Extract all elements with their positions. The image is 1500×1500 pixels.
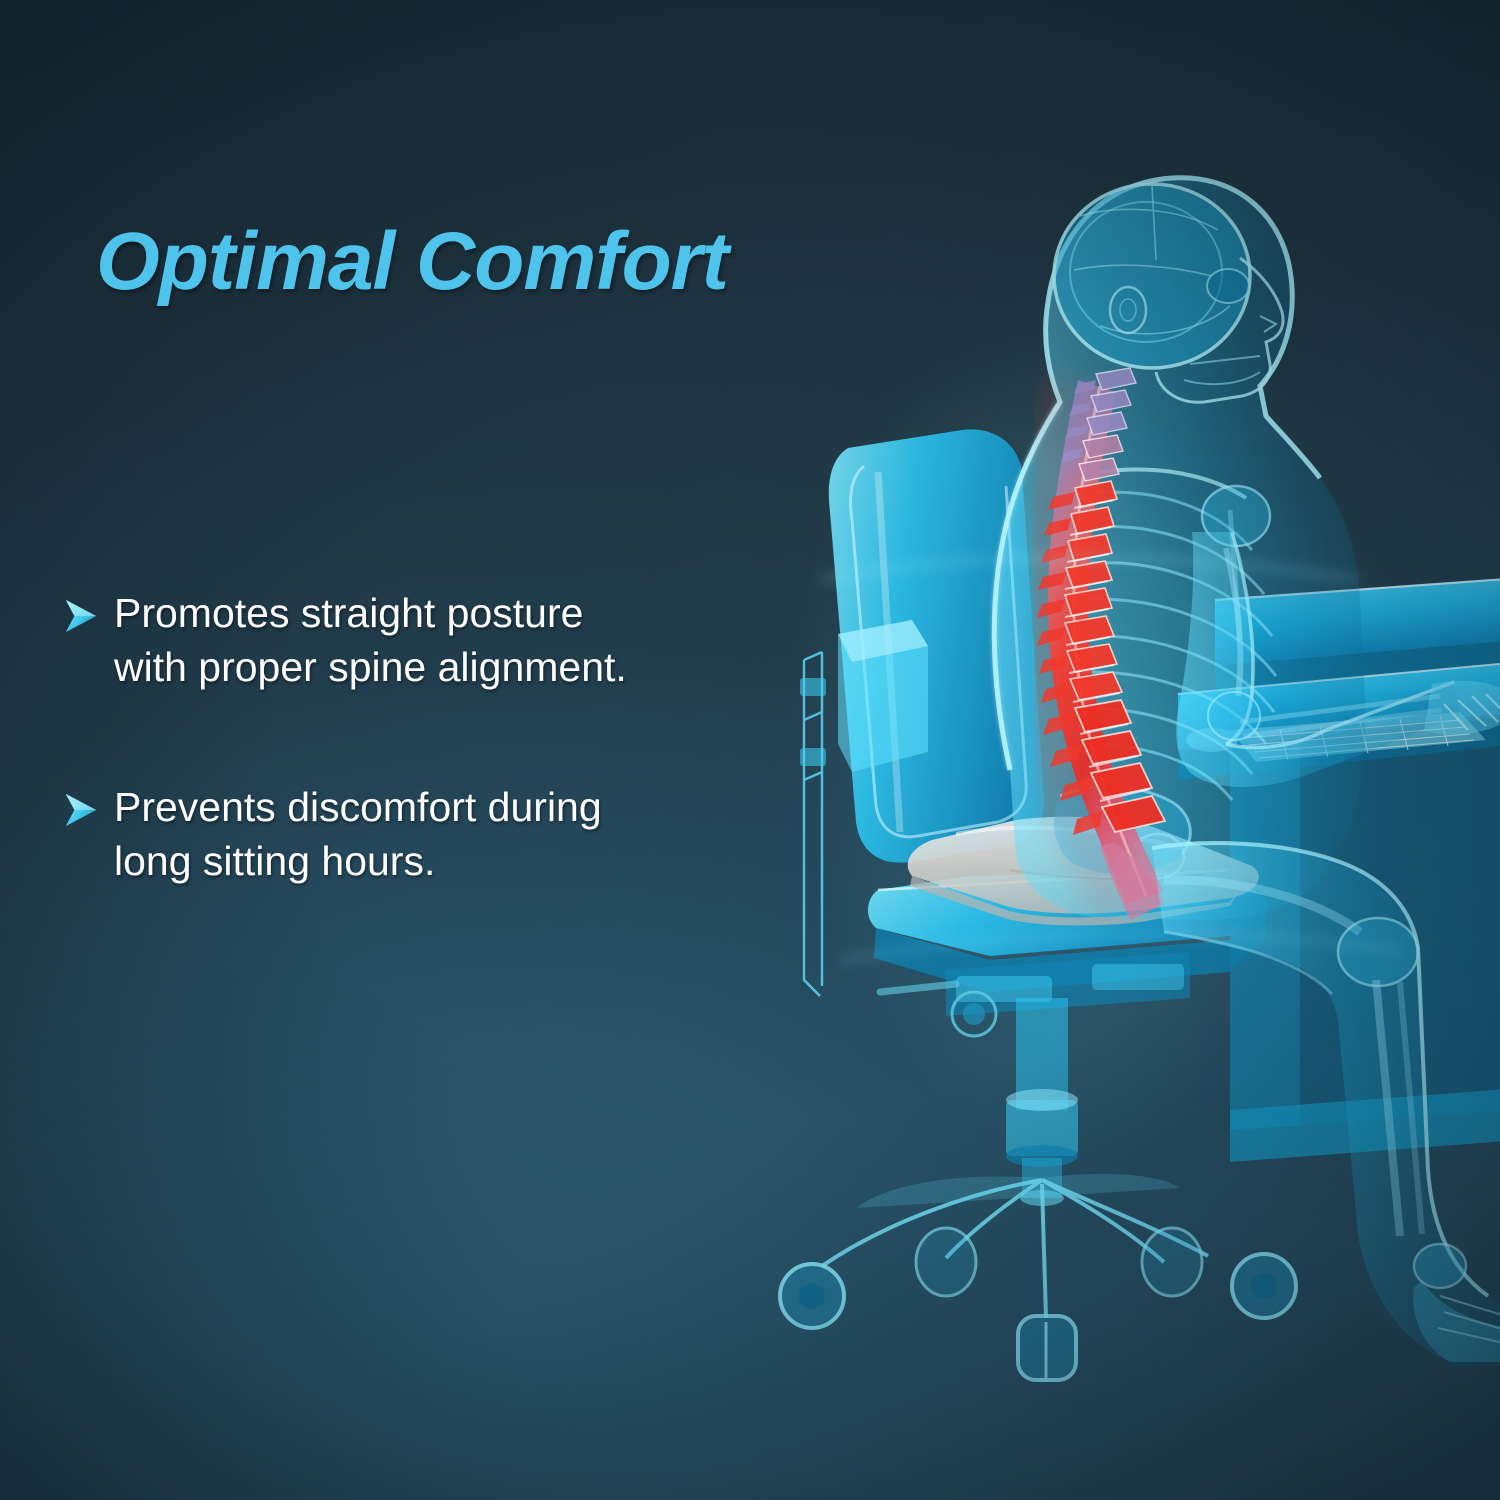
list-item: Prevents discomfort during long sitting … bbox=[62, 780, 762, 888]
arrowhead-icon bbox=[62, 597, 100, 635]
caster-wheels bbox=[780, 1228, 1296, 1380]
product-feature-banner: Optimal Comfort Promotes straight postur… bbox=[0, 0, 1500, 1500]
bullet-line-2: with proper spine alignment. bbox=[114, 644, 627, 690]
feature-bullet-list: Promotes straight posture with proper sp… bbox=[62, 586, 762, 974]
page-title: Optimal Comfort bbox=[96, 215, 728, 309]
bullet-line-1: Promotes straight posture bbox=[114, 590, 583, 636]
list-item-text: Prevents discomfort during long sitting … bbox=[114, 780, 602, 888]
list-item-text: Promotes straight posture with proper sp… bbox=[114, 586, 627, 694]
chair-gas-cylinder bbox=[1006, 998, 1078, 1206]
hand-on-keyboard bbox=[1424, 681, 1500, 735]
list-item: Promotes straight posture with proper sp… bbox=[62, 586, 762, 694]
arrowhead-icon bbox=[62, 791, 100, 829]
xray-illustration bbox=[760, 80, 1500, 1460]
bullet-line-2: long sitting hours. bbox=[114, 838, 435, 884]
bullet-line-1: Prevents discomfort during bbox=[114, 784, 602, 830]
